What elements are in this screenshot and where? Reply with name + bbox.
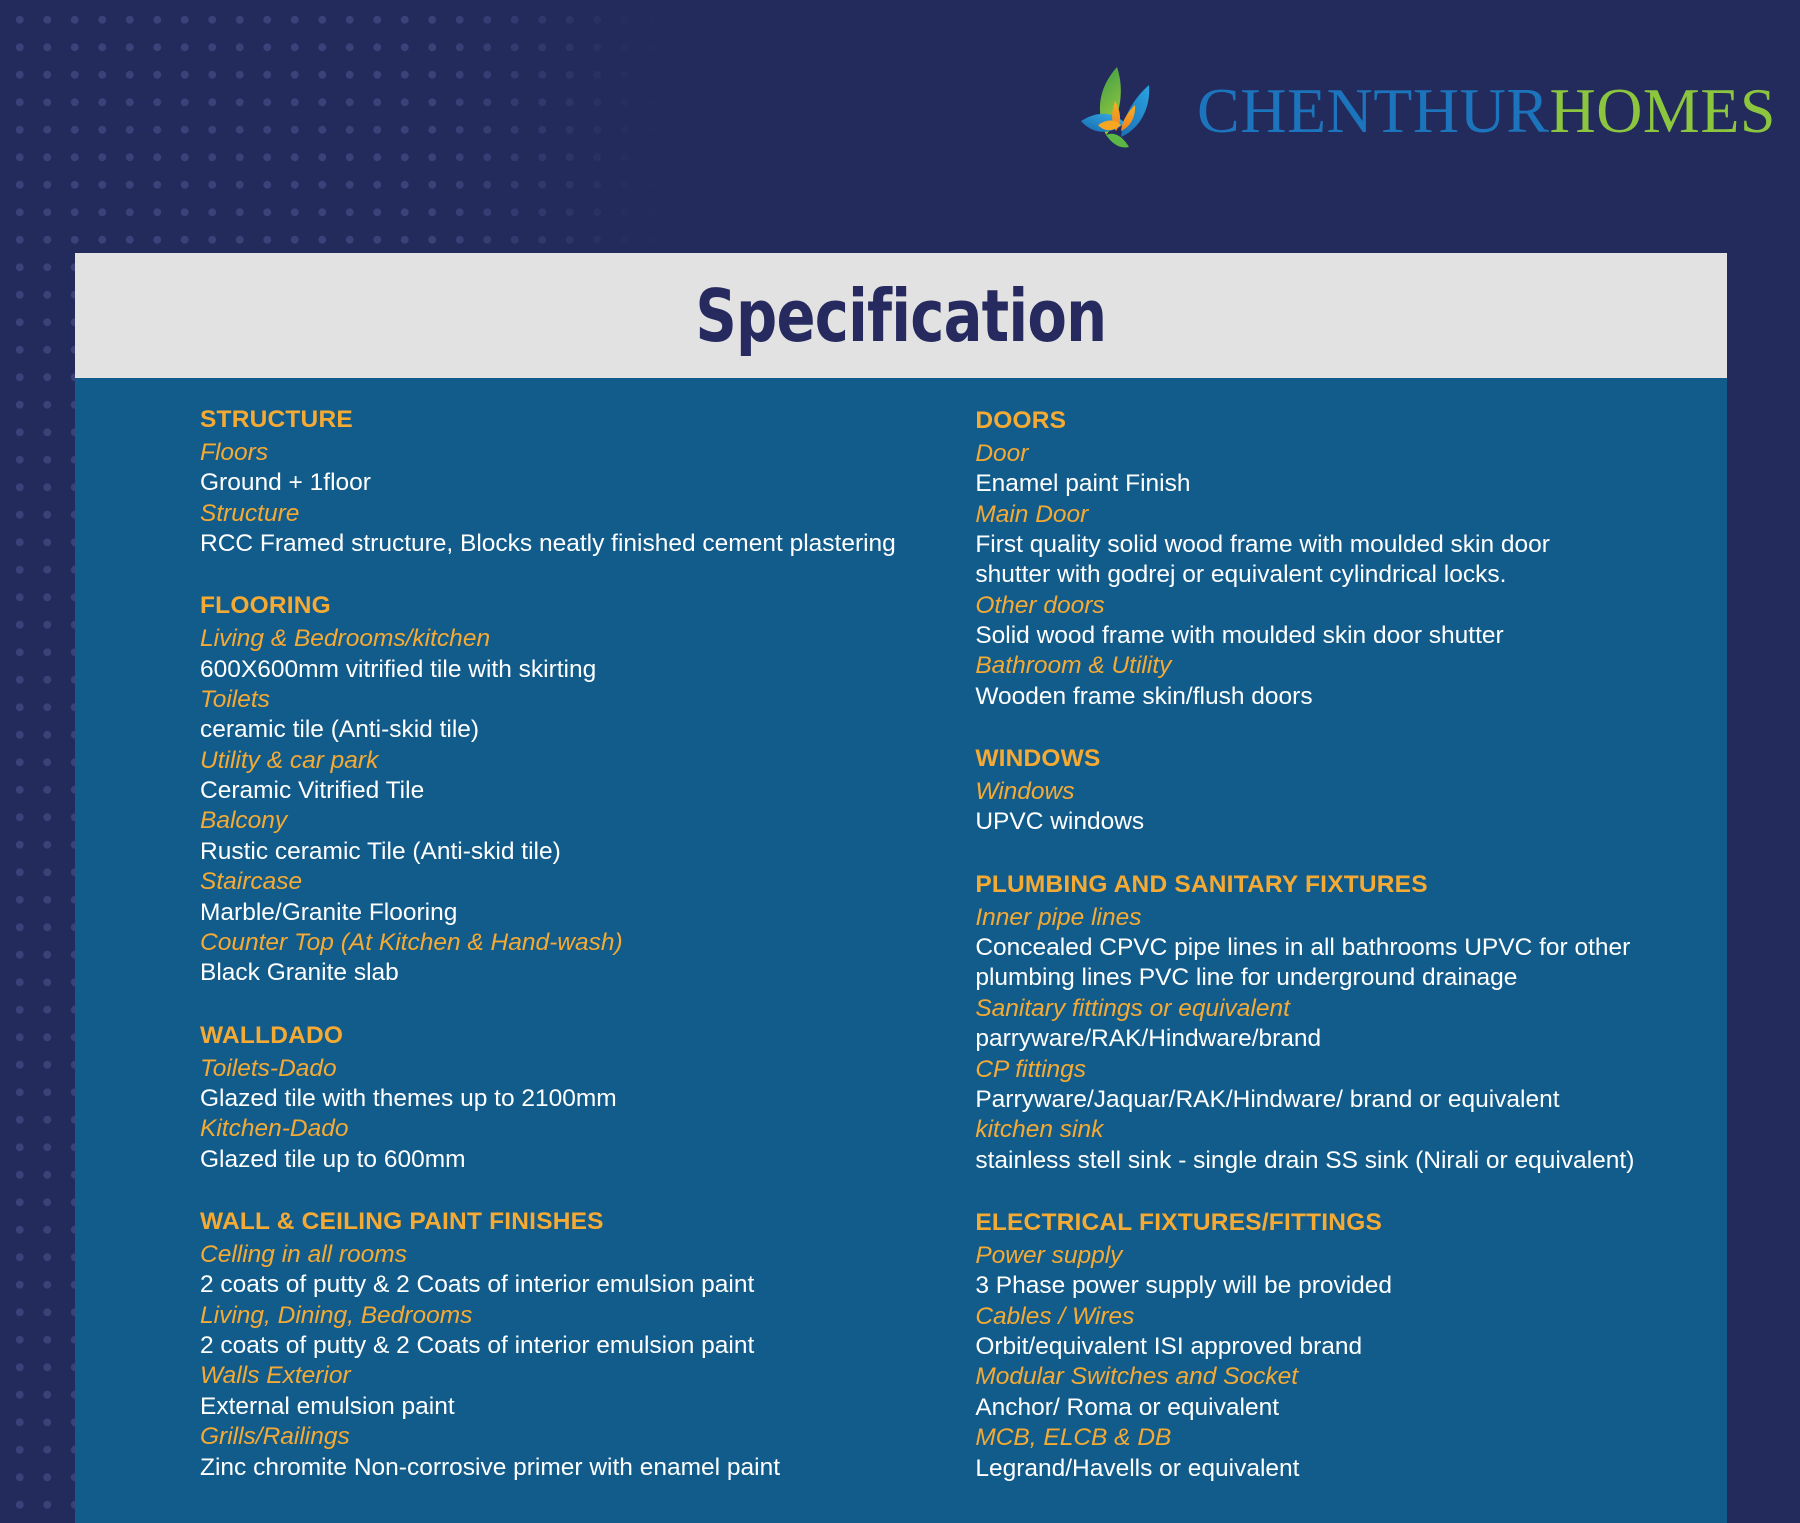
title-band: Specification bbox=[75, 253, 1727, 378]
brand-name-part2: HOMES bbox=[1549, 75, 1776, 146]
spec-item-label: Modular Switches and Socket bbox=[975, 1362, 1687, 1392]
spec-section: PLUMBING AND SANITARY FIXTURESInner pipe… bbox=[975, 870, 1687, 1176]
spec-item-value: Zinc chromite Non-corrosive primer with … bbox=[200, 1453, 965, 1483]
spec-item-value: Enamel paint Finish bbox=[975, 469, 1687, 499]
spec-item-label: Cables / Wires bbox=[975, 1302, 1687, 1332]
specification-page: CHENTHURHOMES Specification STRUCTUREFlo… bbox=[0, 0, 1800, 1523]
spec-item-label: Other doors bbox=[975, 591, 1687, 621]
spec-item-value: 2 coats of putty & 2 Coats of interior e… bbox=[200, 1331, 965, 1361]
spec-item-value: ceramic tile (Anti-skid tile) bbox=[200, 715, 965, 745]
spec-item-value: Orbit/equivalent ISI approved brand bbox=[975, 1332, 1687, 1362]
left-column: STRUCTUREFloorsGround + 1floorStructureR… bbox=[115, 405, 975, 1523]
spec-section-heading: ELECTRICAL FIXTURES/FITTINGS bbox=[975, 1208, 1687, 1239]
spec-item-value: First quality solid wood frame with moul… bbox=[975, 530, 1687, 591]
spec-section-heading: PLUMBING AND SANITARY FIXTURES bbox=[975, 870, 1687, 901]
spec-item-label: Door bbox=[975, 439, 1687, 469]
spec-item-value: UPVC windows bbox=[975, 807, 1687, 837]
brand-logo: CHENTHURHOMES bbox=[1075, 58, 1776, 168]
spec-item-value: Parryware/Jaquar/RAK/Hindware/ brand or … bbox=[975, 1085, 1687, 1115]
spec-item-value: stainless stell sink - single drain SS s… bbox=[975, 1146, 1687, 1176]
spec-item-label: CP fittings bbox=[975, 1055, 1687, 1085]
spec-item-label: Balcony bbox=[200, 806, 965, 836]
spec-item-value: Concealed CPVC pipe lines in all bathroo… bbox=[975, 933, 1687, 994]
spec-item-value: Wooden frame skin/flush doors bbox=[975, 682, 1687, 712]
right-column: DOORSDoorEnamel paint FinishMain DoorFir… bbox=[975, 406, 1687, 1523]
spec-item-value: Ground + 1floor bbox=[200, 468, 965, 498]
spec-item-value: Rustic ceramic Tile (Anti-skid tile) bbox=[200, 837, 965, 867]
spec-section: WALL & CEILING PAINT FINISHESCelling in … bbox=[200, 1207, 965, 1483]
spec-section-heading: DOORS bbox=[975, 406, 1687, 437]
spec-section: WALLDADOToilets-DadoGlazed tile with the… bbox=[200, 1021, 965, 1175]
spec-item-value: Glazed tile with themes up to 2100mm bbox=[200, 1084, 965, 1114]
spec-item-label: Kitchen-Dado bbox=[200, 1114, 965, 1144]
spec-item-label: Sanitary fittings or equivalent bbox=[975, 994, 1687, 1024]
brand-wordmark: CHENTHURHOMES bbox=[1197, 79, 1776, 147]
spec-item-label: Living & Bedrooms/kitchen bbox=[200, 624, 965, 654]
spec-item-label: Windows bbox=[975, 777, 1687, 807]
spec-item-label: Toilets-Dado bbox=[200, 1054, 965, 1084]
spec-item-value: External emulsion paint bbox=[200, 1392, 965, 1422]
spec-item-label: Floors bbox=[200, 438, 965, 468]
spec-item-label: Walls Exterior bbox=[200, 1361, 965, 1391]
spec-item-label: Structure bbox=[200, 499, 965, 529]
spec-section-heading: WINDOWS bbox=[975, 744, 1687, 775]
spec-item-label: Celling in all rooms bbox=[200, 1240, 965, 1270]
spec-item-label: Toilets bbox=[200, 685, 965, 715]
spec-item-value: Solid wood frame with moulded skin door … bbox=[975, 621, 1687, 651]
spec-section-heading: WALL & CEILING PAINT FINISHES bbox=[200, 1207, 965, 1238]
spec-item-value: Marble/Granite Flooring bbox=[200, 898, 965, 928]
spec-item-label: Power supply bbox=[975, 1241, 1687, 1271]
spec-item-label: Utility & car park bbox=[200, 746, 965, 776]
spec-item-value: 3 Phase power supply will be provided bbox=[975, 1271, 1687, 1301]
spec-item-value: RCC Framed structure, Blocks neatly fini… bbox=[200, 529, 965, 559]
page-header: CHENTHURHOMES bbox=[0, 0, 1800, 253]
spec-item-label: Grills/Railings bbox=[200, 1422, 965, 1452]
spec-section-heading: WALLDADO bbox=[200, 1021, 965, 1052]
specification-body: STRUCTUREFloorsGround + 1floorStructureR… bbox=[75, 378, 1727, 1523]
spec-item-label: Inner pipe lines bbox=[975, 903, 1687, 933]
spec-item-label: Living, Dining, Bedrooms bbox=[200, 1301, 965, 1331]
spec-item-label: kitchen sink bbox=[975, 1115, 1687, 1145]
spec-section: ELECTRICAL FIXTURES/FITTINGSPower supply… bbox=[975, 1208, 1687, 1484]
spec-section: FLOORINGLiving & Bedrooms/kitchen600X600… bbox=[200, 591, 965, 988]
spec-section-heading: FLOORING bbox=[200, 591, 965, 622]
spec-section: DOORSDoorEnamel paint FinishMain DoorFir… bbox=[975, 406, 1687, 712]
spec-section: STRUCTUREFloorsGround + 1floorStructureR… bbox=[200, 405, 965, 559]
spec-item-label: Bathroom & Utility bbox=[975, 651, 1687, 681]
spec-item-value: Glazed tile up to 600mm bbox=[200, 1145, 965, 1175]
spec-item-value: Anchor/ Roma or equivalent bbox=[975, 1393, 1687, 1423]
brand-name-part1: CHENTHUR bbox=[1197, 75, 1549, 146]
spec-item-value: 600X600mm vitrified tile with skirting bbox=[200, 655, 965, 685]
spec-section-heading: STRUCTURE bbox=[200, 405, 965, 436]
spec-item-value: 2 coats of putty & 2 Coats of interior e… bbox=[200, 1270, 965, 1300]
spec-item-label: Counter Top (At Kitchen & Hand-wash) bbox=[200, 928, 965, 958]
spec-item-label: Staircase bbox=[200, 867, 965, 897]
spec-item-label: MCB, ELCB & DB bbox=[975, 1423, 1687, 1453]
page-title: Specification bbox=[696, 274, 1107, 358]
spec-item-value: Ceramic Vitrified Tile bbox=[200, 776, 965, 806]
spec-item-value: parryware/RAK/Hindware/brand bbox=[975, 1024, 1687, 1054]
spec-item-label: Main Door bbox=[975, 500, 1687, 530]
spec-section: WINDOWSWindowsUPVC windows bbox=[975, 744, 1687, 838]
butterfly-leaf-logo-icon bbox=[1075, 61, 1195, 166]
spec-item-value: Legrand/Havells or equivalent bbox=[975, 1454, 1687, 1484]
spec-item-value: Black Granite slab bbox=[200, 958, 965, 988]
